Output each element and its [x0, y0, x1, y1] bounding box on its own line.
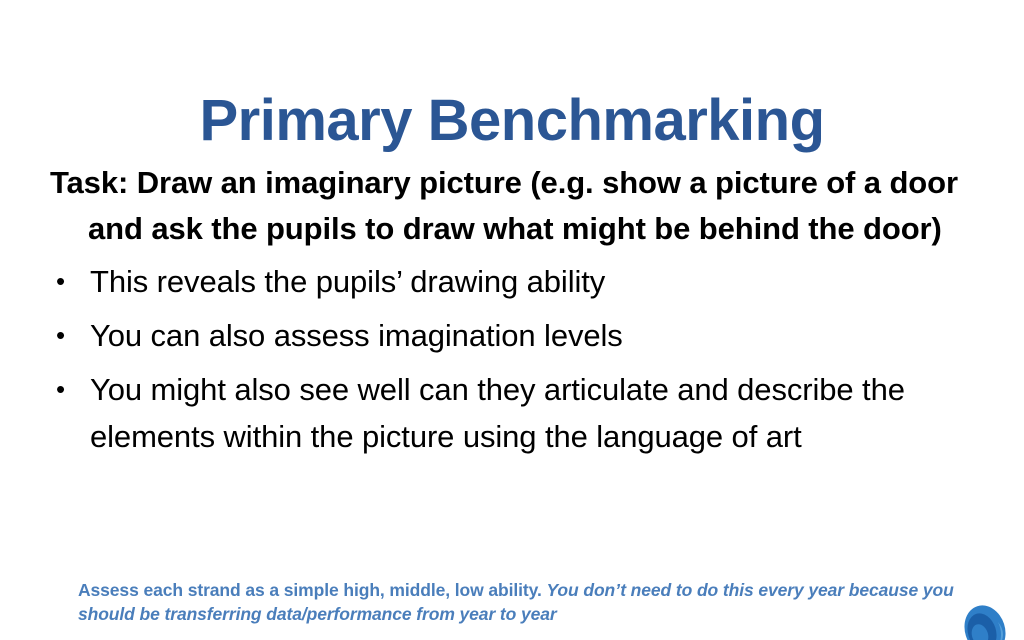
list-item-label: This reveals the pupils’ drawing ability	[90, 264, 605, 299]
page-title: Primary Benchmarking	[0, 91, 1024, 152]
list-item: • This reveals the pupils’ drawing abili…	[50, 258, 1000, 305]
slide-canvas: Primary Benchmarking Task: Draw an imagi…	[0, 0, 1024, 640]
list-item: • You might also see well can they artic…	[50, 366, 1000, 460]
list-item-label: You can also assess imagination levels	[90, 318, 623, 353]
bullet-list: • This reveals the pupils’ drawing abili…	[50, 258, 1000, 460]
bullet-dot-icon: •	[56, 312, 65, 359]
list-item-label: You might also see well can they articul…	[90, 372, 905, 454]
bullet-dot-icon: •	[56, 366, 65, 413]
corner-logo	[958, 600, 1018, 640]
task-paragraph: Task: Draw an imaginary picture (e.g. sh…	[50, 160, 1000, 252]
bullet-dot-icon: •	[56, 258, 65, 305]
slide-body: Task: Draw an imaginary picture (e.g. sh…	[50, 160, 1000, 467]
footer-note: Assess each strand as a simple high, mid…	[78, 578, 958, 626]
footer-note-plain: Assess each strand as a simple high, mid…	[78, 580, 546, 600]
list-item: • You can also assess imagination levels	[50, 312, 1000, 359]
logo-teardrop-icon	[958, 600, 1011, 640]
